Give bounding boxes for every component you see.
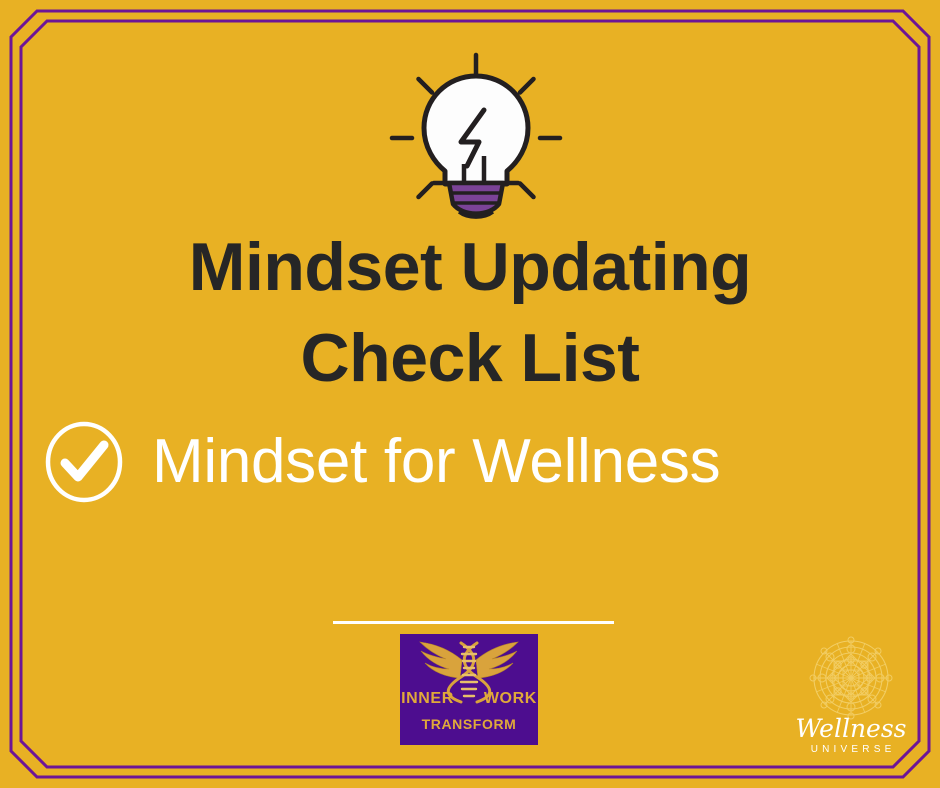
wellness-universe-logo[interactable]: Wellness UNIVERSE — [793, 632, 909, 758]
wellness-universe-name: Wellness — [793, 716, 909, 741]
circle-check-icon — [44, 421, 124, 503]
inner-work-transform-logo[interactable]: INNERWORK TRANSFORM — [400, 634, 538, 745]
lightbulb-idea-icon — [388, 52, 564, 224]
poster-canvas: Mindset Updating Check List Mindset for … — [0, 0, 940, 788]
logo-word-left: INNER — [401, 690, 454, 707]
checklist-item[interactable]: Mindset for Wellness — [44, 420, 904, 504]
divider — [333, 621, 614, 624]
title-line-2: Check List — [0, 313, 940, 404]
wellness-universe-subtitle: UNIVERSE — [793, 744, 909, 755]
checklist-item-label: Mindset for Wellness — [152, 431, 720, 493]
logo-subtitle: TRANSFORM — [400, 716, 538, 732]
title-line-1: Mindset Updating — [0, 222, 940, 313]
page-title: Mindset Updating Check List — [0, 222, 940, 404]
mandala-icon — [805, 632, 897, 724]
logo-words: INNERWORK — [400, 690, 538, 708]
logo-word-right: WORK — [484, 690, 537, 707]
